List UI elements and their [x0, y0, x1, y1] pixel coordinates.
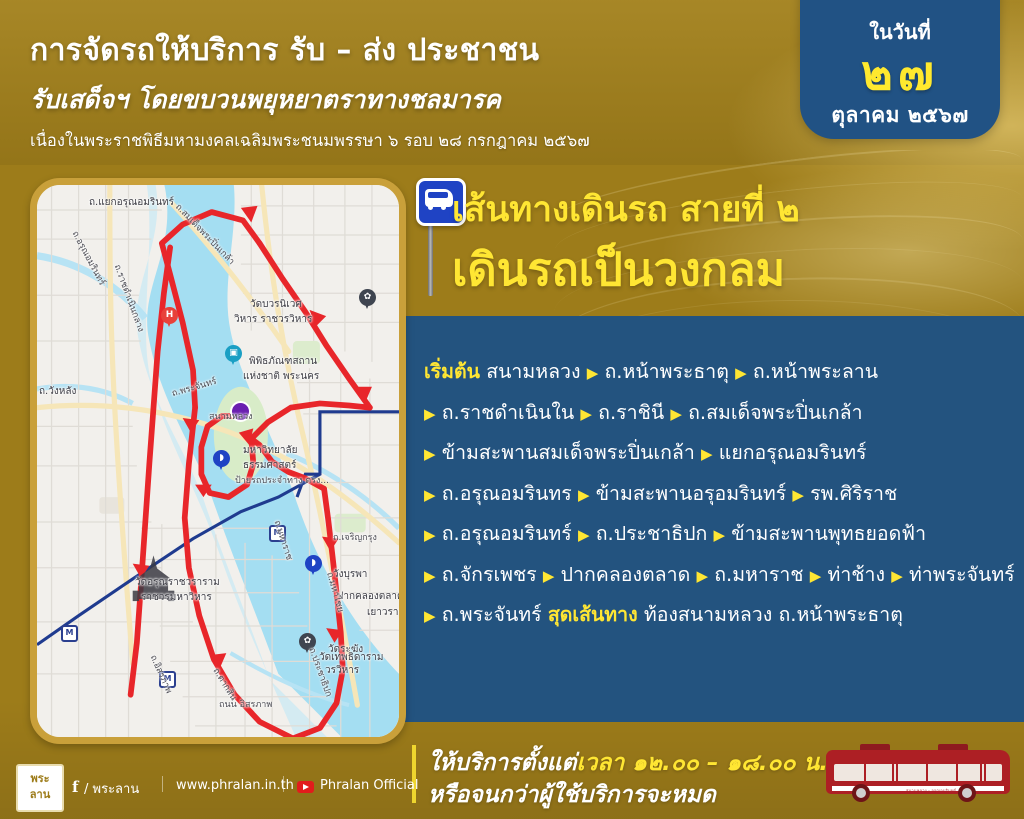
route-line: ▶ ข้ามสะพานสมเด็จพระปิ่นเกล้า ▶ แยกอรุณอ…: [424, 443, 1024, 463]
route-stop: ถ.ราชินี: [598, 401, 664, 424]
route-arrow-icon: ▶: [424, 405, 436, 423]
route-stop: ท้องสนามหลวง ถ.หน้าพระธาตุ: [644, 603, 903, 626]
map-label: สนามหลวง: [209, 409, 253, 423]
route-arrow-icon: ▶: [424, 445, 436, 463]
route-stop: ถ.จักรเพชร: [442, 563, 537, 586]
route-arrow-icon: ▶: [580, 405, 592, 423]
map-label: วิหาร ราชวรวิหาร: [234, 312, 312, 327]
footer-divider-1: [162, 776, 163, 792]
route-stop: ถ.สมเด็จพระปิ่นเกล้า: [688, 401, 862, 424]
map-label: ถ.วังหลัง: [39, 384, 76, 399]
logo-line1: พระ: [30, 772, 49, 785]
route-stop: ถ.มหาราช: [714, 563, 803, 586]
map-label: มหาวิทยาลัย: [243, 443, 297, 458]
route-stop: ข้ามสะพานอรุอมรินทร์: [596, 482, 787, 505]
route-stop: ท่าพระจันทร์: [909, 563, 1015, 586]
route-arrow-icon: ▶: [891, 567, 903, 585]
bus-stop-pin[interactable]: ◗: [213, 450, 230, 467]
route-stop: ข้ามสะพานสมเด็จพระปิ่นเกล้า: [442, 441, 695, 464]
map-label: ราชวรมหาวิหาร: [141, 590, 212, 605]
route-stop: ถ.อรุณอมรินทร: [442, 482, 572, 505]
museum-pin[interactable]: ▣: [225, 345, 242, 362]
route-arrow-icon: ▶: [424, 567, 436, 585]
facebook-handle[interactable]: / พระลาน: [84, 778, 139, 799]
route-arrow-icon: ▶: [792, 486, 804, 504]
map-label: วัดบวรนิเวศ: [250, 297, 302, 312]
route-stop: ถ.อรุณอมรินทร์: [442, 522, 572, 545]
route-arrow-icon: ▶: [424, 486, 436, 504]
map-label: เยาวราช: [367, 605, 405, 620]
date-day: ๒๗: [800, 47, 1000, 101]
route-stop: สนามหลวง: [486, 360, 580, 383]
map-label: แห่งชาติ พระนคร: [243, 369, 319, 384]
route-stop: ถ.หน้าพระลาน: [753, 360, 878, 383]
map-label: ถ.เจริญกรุง: [333, 530, 377, 544]
footer: พระ ลาน f / พระลาน www.phralan.in.th Phr…: [0, 758, 396, 819]
route-line: ▶ ถ.ราชดำเนินใน ▶ ถ.ราชินี ▶ ถ.สมเด็จพระ…: [424, 403, 1024, 423]
route-arrow-icon: ▶: [587, 364, 599, 382]
bus-illustration: สนามหลวง - อรุณอมรินทร์: [826, 744, 1014, 806]
map-label: ป้ายรถประจำทาง ตรง...: [235, 473, 329, 487]
youtube-icon[interactable]: [297, 781, 314, 793]
pier-pin[interactable]: ◗: [305, 555, 322, 572]
route-title-line2: เดินรถเป็นวงกลม: [452, 233, 785, 305]
route-arrow-icon: ▶: [543, 567, 555, 585]
date-month-year: ตุลาคม ๒๕๖๗: [800, 99, 1000, 132]
date-badge: ในวันที่ ๒๗ ตุลาคม ๒๕๖๗: [800, 0, 1000, 139]
route-arrow-icon: ▶: [696, 567, 708, 585]
route-arrow-icon: ▶: [701, 445, 713, 463]
route-arrow-icon: ▶: [735, 364, 747, 382]
facebook-icon[interactable]: f: [72, 778, 78, 796]
poster-root: การจัดรถให้บริการ รับ – ส่ง ประชาชน รับเ…: [0, 0, 1024, 819]
route-stop: ถ.หน้าพระธาตุ: [604, 360, 728, 383]
route-arrow-icon: ▶: [810, 567, 822, 585]
service-time: เวลา ๑๒.๐๐ – ๑๘.๐๐ น.: [576, 750, 828, 776]
footer-divider-2: [283, 776, 284, 792]
route-stop: รพ.ศิริราช: [810, 482, 897, 505]
route-line: ▶ ถ.พระจันทร์ สุดเส้นทาง ท้องสนามหลวง ถ.…: [424, 605, 1024, 625]
map-label: ธรรมศาสตร์: [243, 458, 296, 473]
route-arrow-icon: ▶: [714, 526, 726, 544]
temple-pin[interactable]: ✿: [359, 289, 376, 306]
youtube-channel[interactable]: Phralan Official: [320, 778, 418, 793]
route-line: ▶ ถ.อรุณอมรินทร ▶ ข้ามสะพานอรุอมรินทร์ ▶…: [424, 484, 1024, 504]
route-stop: ท่าช้าง: [827, 563, 885, 586]
route-stop: ถ.ราชดำเนินใน: [442, 401, 574, 424]
route-arrow-icon: ▶: [578, 526, 590, 544]
map-label: พิพิธภัณฑสถาน: [249, 354, 317, 369]
route-line: ▶ ถ.อรุณอมรินทร์ ▶ ถ.ประชาธิปก ▶ ข้ามสะพ…: [424, 524, 1024, 544]
website-link[interactable]: www.phralan.in.th: [176, 778, 294, 793]
map-label: ปากคลองตลาด: [337, 589, 403, 604]
route-line: ▶ ถ.จักรเพชร ▶ ปากคลองตลาด ▶ ถ.มหาราช ▶ …: [424, 565, 1024, 585]
map-label: วรวิหาร: [325, 663, 359, 678]
map-label: ถนน อิสรภาพ: [219, 697, 272, 711]
mrt-station-marker-2[interactable]: M: [61, 625, 78, 642]
page-subtitle: รับเสด็จฯ โดยขบวนพยุหยาตราทางชลมารค: [30, 80, 750, 120]
route-start-label: เริ่มต้น: [424, 360, 480, 383]
service-hours-line2: หรือจนกว่าผู้ใช้บริการจะหมด: [428, 777, 716, 813]
route-arrow-icon: ▶: [424, 607, 436, 625]
route-line: เริ่มต้น สนามหลวง ▶ ถ.หน้าพระธาตุ ▶ ถ.หน…: [424, 362, 1024, 382]
route-stop: ถ.พระจันทร์: [442, 603, 542, 626]
route-map[interactable]: H ✿ ▣ ◗ ◗ ✿ M M M ถ.แยกอรุณอมรินทร์ถ.อรุ…: [30, 178, 406, 744]
route-stop: ถ.ประชาธิปก: [596, 522, 708, 545]
map-label: วัดอรุณราชวราราม: [135, 575, 220, 590]
page-title: การจัดรถให้บริการ รับ – ส่ง ประชาชน: [30, 27, 730, 74]
map-label: ถ.แยกอรุณอมรินทร์: [89, 195, 174, 210]
route-arrow-icon: ▶: [670, 405, 682, 423]
route-arrow-icon: ▶: [424, 526, 436, 544]
logo-line2: ลาน: [30, 788, 50, 801]
phralan-logo: พระ ลาน: [16, 764, 64, 812]
service-hours-line1: ให้บริการตั้งแต่เวลา ๑๒.๐๐ – ๑๘.๐๐ น.: [428, 745, 828, 781]
date-prefix: ในวันที่: [800, 16, 1000, 48]
route-arrow-icon: ▶: [578, 486, 590, 504]
route-list: เริ่มต้น สนามหลวง ▶ ถ.หน้าพระธาตุ ▶ ถ.หน…: [424, 362, 1024, 646]
hospital-pin[interactable]: H: [161, 307, 178, 324]
route-title-line1: เส้นทางเดินรถ สายที่ ๒: [452, 182, 800, 237]
route-stop: แยกอรุณอมรินทร์: [719, 441, 867, 464]
route-stop: ปากคลองตลาด: [561, 563, 691, 586]
route-stop: ข้ามสะพานพุทธยอดฟ้า: [731, 522, 926, 545]
occasion-text: เนื่องในพระราชพิธีมหามงคลเฉลิมพระชนมพรรษ…: [30, 128, 790, 154]
route-end-label: สุดเส้นทาง: [548, 603, 638, 626]
service-prefix: ให้บริการตั้งแต่: [428, 750, 576, 776]
service-accent-rule: [412, 745, 416, 803]
